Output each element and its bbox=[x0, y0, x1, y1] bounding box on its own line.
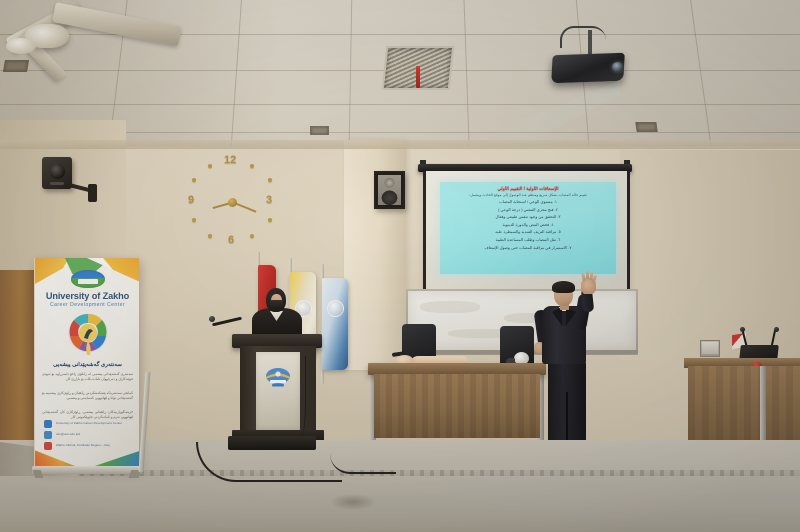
banner-paragraph: ئامانجی سەنتەرەکە پێشکەشکردنی ڕاهێنان و … bbox=[42, 391, 133, 401]
emblem-icon bbox=[65, 312, 111, 358]
vent-ribbon bbox=[416, 66, 420, 88]
floor-cable bbox=[196, 442, 342, 482]
clock-marker bbox=[268, 218, 272, 222]
speaker-hair bbox=[552, 281, 575, 293]
wall-cornice bbox=[0, 140, 800, 149]
portrait-photo bbox=[378, 175, 401, 205]
framed-portrait bbox=[374, 171, 405, 209]
wall-clock-icon: 12 3 6 9 bbox=[186, 156, 278, 248]
slide-bullet: ٧. الاستمرار في مراقبة المصاب حتى وصول ا… bbox=[445, 244, 611, 252]
floor-stain bbox=[330, 494, 376, 510]
slide-bullet: ٣. التحقق من وجود تنفس طبيعي وفعال bbox=[445, 213, 611, 221]
conference-table-front bbox=[688, 366, 800, 446]
banner-subtitle: Career Development Center bbox=[39, 302, 136, 308]
ceiling-light bbox=[635, 122, 657, 132]
whiteboard-smudge bbox=[420, 301, 480, 313]
facebook-icon[interactable] bbox=[44, 420, 52, 428]
podium-microphone-icon[interactable] bbox=[209, 316, 215, 322]
university-crest-icon bbox=[264, 366, 292, 391]
ceiling-tile-seam bbox=[689, 0, 713, 151]
banner-kurdish-heading: سەنتەری گەشەپێدانی پیشەیی bbox=[39, 362, 136, 368]
slide-bullet: ٥. مراقبة النزيف الشديد والسيطرة عليه bbox=[445, 228, 611, 236]
ceiling-light bbox=[310, 126, 329, 135]
floor-cable bbox=[330, 454, 396, 474]
flag-blue bbox=[322, 278, 348, 370]
ceiling-tile-seam bbox=[463, 0, 470, 152]
table-microphone-icon[interactable] bbox=[774, 327, 779, 332]
banner-base bbox=[32, 466, 142, 474]
location-icon[interactable] bbox=[44, 442, 52, 450]
ceiling-fan-cap bbox=[6, 38, 36, 54]
university-crest bbox=[264, 366, 292, 391]
banner-paragraph: خزمەتگوزارییەکان: ڕاهێنانی پیشەیی، ڕاوێژ… bbox=[42, 410, 133, 420]
ceiling-tile-seam bbox=[230, 0, 242, 152]
banner-social-label: cdc@uoz.edu.krd bbox=[56, 432, 80, 436]
clock-numeral-9: 9 bbox=[188, 194, 194, 206]
flag-emblem bbox=[327, 300, 344, 317]
slide-bullet: ١. مستوى الوعي / استجابة المصاب bbox=[445, 198, 611, 206]
clock-marker bbox=[250, 164, 254, 168]
speaker-raised-hand bbox=[581, 278, 596, 294]
clock-marker bbox=[208, 234, 212, 238]
slide-bullet: ٦. نقل المصاب وطلب المساعدة الطبية bbox=[445, 236, 611, 244]
clock-numeral-12: 12 bbox=[224, 154, 236, 166]
speaker-cone bbox=[50, 164, 65, 179]
projected-slide: الإسعافات الأولية / التقييم الأولي تقييم… bbox=[440, 182, 616, 274]
clock-marker bbox=[250, 234, 254, 238]
hand-finger bbox=[586, 271, 589, 279]
presenter-face-mask bbox=[270, 300, 283, 309]
floor bbox=[0, 476, 800, 532]
ceiling-light bbox=[3, 60, 29, 72]
clock-marker bbox=[192, 218, 196, 222]
left-door-panel[interactable] bbox=[0, 270, 36, 452]
podium-cable bbox=[294, 356, 306, 436]
clock-marker bbox=[192, 178, 196, 182]
mail-icon[interactable] bbox=[44, 431, 52, 439]
banner-social-label: Zakho, Duhok, Kurdistan Region – Iraq bbox=[56, 443, 109, 447]
speaker-tie bbox=[562, 311, 566, 326]
banner-title: University of Zakho bbox=[39, 291, 136, 301]
clock-numeral-3: 3 bbox=[266, 194, 272, 206]
university-logo-book bbox=[78, 279, 98, 284]
clock-marker bbox=[208, 164, 212, 168]
career-development-center-emblem bbox=[65, 312, 111, 358]
slide-title: الإسعافات الأولية / التقييم الأولي bbox=[445, 186, 611, 192]
screen-edge bbox=[423, 171, 426, 293]
banner-social-label: University of Zakho Career Development C… bbox=[56, 421, 122, 425]
banner-paragraph: سەنتەری گەشەپێدانی پیشەیی لە زانکۆی زاخۆ… bbox=[42, 372, 133, 382]
speaker-bracket bbox=[88, 184, 97, 202]
right-wall bbox=[620, 150, 800, 360]
screen-edge bbox=[627, 171, 630, 293]
wooden-desk-front bbox=[374, 374, 540, 438]
ceiling-tile-seam bbox=[0, 104, 800, 105]
conference-table-leg bbox=[760, 366, 766, 448]
slide-bullet: ٤. فحص النبض والدورة الدموية bbox=[445, 221, 611, 229]
projector-cable bbox=[560, 26, 606, 48]
table-microphone-icon[interactable] bbox=[740, 327, 745, 332]
lecture-hall-photo: 12 3 6 9 الإسعافات الأولية / التقييم الأ… bbox=[0, 0, 800, 532]
ceiling-tile-seam bbox=[349, 0, 353, 152]
projector-lens-icon bbox=[612, 62, 623, 72]
speaker-port bbox=[50, 182, 64, 185]
roll-up-banner: University of Zakho Career Development C… bbox=[34, 258, 139, 470]
clock-numeral-6: 6 bbox=[228, 234, 234, 246]
slide-bullet: ٢. فتح مجرى التنفس ( درجة الوعي ) bbox=[445, 206, 611, 214]
clock-marker bbox=[268, 178, 272, 182]
clock-center-cap bbox=[228, 198, 237, 207]
table-monitor-screen bbox=[702, 342, 718, 354]
